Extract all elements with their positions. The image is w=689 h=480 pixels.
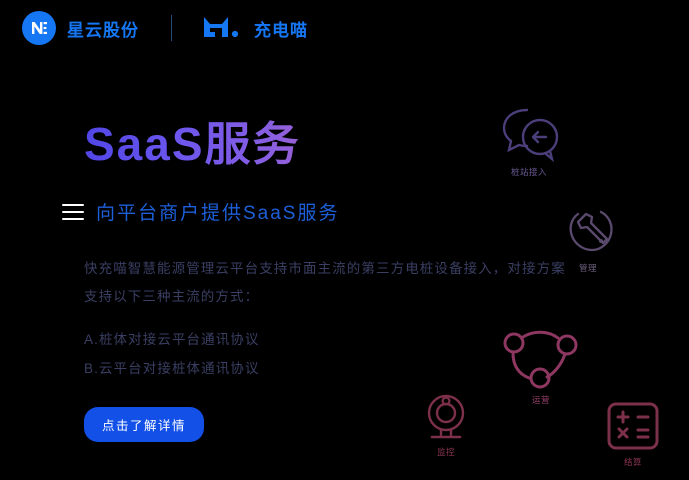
subtitle-row: 向平台商户提供SaaS服务 — [62, 198, 584, 225]
decoration-settlement: 结算 — [605, 400, 661, 468]
brand-chongdianmiao-label: 充电喵 — [254, 16, 308, 41]
calculator-icon — [605, 400, 661, 452]
decoration-label: 桩站接入 — [511, 166, 547, 178]
chongdianmiao-cat-icon — [202, 15, 246, 41]
chat-bubble-icon — [496, 104, 562, 162]
brand-xingyun-label: 星云股份 — [67, 16, 139, 41]
xingyun-logo-icon — [22, 11, 56, 45]
decoration-management: 管理 — [561, 208, 615, 274]
decoration-monitoring: 监控 — [422, 392, 470, 458]
brand-xingyun[interactable]: 星云股份 — [22, 11, 139, 45]
brand-divider — [171, 15, 172, 41]
page-subtitle: 向平台商户提供SaaS服务 — [96, 198, 339, 225]
decoration-label: 运营 — [532, 394, 550, 406]
decoration-label: 管理 — [579, 262, 597, 274]
learn-more-button[interactable]: 点击了解详情 — [84, 407, 204, 442]
wrench-icon — [561, 208, 615, 258]
decoration-operation: 运营 — [501, 328, 581, 406]
decoration-chat-access: 桩站接入 — [496, 104, 562, 178]
brand-chongdianmiao[interactable]: 充电喵 — [202, 15, 308, 41]
network-nodes-icon — [501, 328, 581, 390]
decoration-label: 监控 — [437, 446, 455, 458]
hero-description: 快充喵智慧能源管理云平台支持市面主流的第三方电桩设备接入，对接方案支持以下三种主… — [84, 255, 576, 311]
hamburger-icon — [62, 204, 84, 220]
page-header: 星云股份 充电喵 — [0, 0, 689, 56]
decoration-label: 结算 — [624, 456, 642, 468]
monitor-camera-icon — [422, 392, 470, 442]
